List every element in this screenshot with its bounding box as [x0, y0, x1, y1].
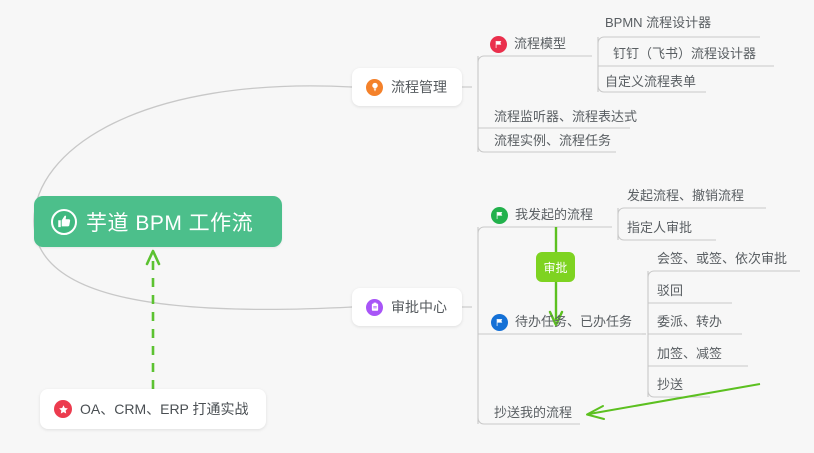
topic-label: 驳回 — [657, 283, 683, 298]
topic-start-cancel-process[interactable]: 发起流程、撤销流程 — [622, 186, 749, 208]
thumbs-up-icon — [51, 209, 77, 235]
note-label: OA、CRM、ERP 打通实战 — [80, 399, 249, 419]
topic-assignee-approval[interactable]: 指定人审批 — [622, 218, 697, 240]
mindmap-canvas: 芋道 BPM 工作流 流程管理 审批中心 — [0, 0, 814, 453]
topic-countersign[interactable]: 会签、或签、依次审批 — [652, 249, 792, 271]
topic-label: 流程监听器、流程表达式 — [494, 109, 637, 124]
topic-custom-form[interactable]: 自定义流程表单 — [600, 72, 701, 94]
note-node-integration[interactable]: OA、CRM、ERP 打通实战 — [40, 389, 266, 429]
clipboard-icon — [366, 299, 383, 316]
topic-label: 会签、或签、依次审批 — [657, 251, 787, 266]
underline-liuchengmoxing — [478, 56, 570, 62]
topic-label: 加签、减签 — [657, 346, 722, 361]
topic-add-remove-sign[interactable]: 加签、减签 — [652, 344, 727, 366]
topic-label: 自定义流程表单 — [605, 74, 696, 89]
star-icon — [54, 400, 72, 418]
branch-label-liucheng-guanli: 流程管理 — [391, 77, 447, 97]
root-node[interactable]: 芋道 BPM 工作流 — [34, 196, 282, 247]
flag-icon — [490, 36, 507, 53]
underline-wofaqi — [478, 227, 594, 233]
topic-cc-to-me[interactable]: 抄送我的流程 — [489, 403, 577, 425]
underline-bpmn — [598, 37, 760, 43]
topic-label: 流程模型 — [514, 34, 566, 54]
topic-my-initiated-process[interactable]: 我发起的流程 — [489, 205, 598, 227]
flag-icon — [491, 207, 508, 224]
topic-delegate-transfer[interactable]: 委派、转办 — [652, 312, 727, 334]
topic-reject[interactable]: 驳回 — [652, 281, 688, 303]
topic-todo-done-tasks[interactable]: 待办任务、已办任务 — [489, 312, 637, 334]
topic-label: 指定人审批 — [627, 220, 692, 235]
root-label: 芋道 BPM 工作流 — [86, 207, 253, 237]
topic-label: 委派、转办 — [657, 314, 722, 329]
branch-label-shenpi-zhongxin: 审批中心 — [391, 297, 447, 317]
topic-label: 抄送 — [657, 377, 683, 392]
flag-icon — [491, 314, 508, 331]
topic-label: BPMN 流程设计器 — [605, 15, 711, 30]
lightbulb-icon — [366, 79, 383, 96]
green-arrowhead-chaosong — [587, 406, 604, 419]
callout-label: 审批 — [543, 259, 567, 276]
topic-carbon-copy[interactable]: 抄送 — [652, 375, 688, 397]
topic-bpmn-designer[interactable]: BPMN 流程设计器 — [600, 13, 716, 35]
topic-label: 抄送我的流程 — [494, 405, 572, 420]
topic-liucheng-moxing[interactable]: 流程模型 — [488, 34, 571, 56]
topic-liucheng-jiantingqi[interactable]: 流程监听器、流程表达式 — [489, 107, 642, 129]
branch-node-shenpi-zhongxin[interactable]: 审批中心 — [352, 288, 462, 326]
topic-label: 待办任务、已办任务 — [515, 312, 632, 332]
callout-approval[interactable]: 审批 — [536, 252, 575, 282]
topic-label: 流程实例、流程任务 — [494, 133, 611, 148]
topic-dingding-designer[interactable]: 钉钉（飞书）流程设计器 — [608, 44, 761, 66]
underline-huiqian — [648, 271, 800, 277]
topic-label: 钉钉（飞书）流程设计器 — [613, 46, 756, 61]
topic-liucheng-shili[interactable]: 流程实例、流程任务 — [489, 131, 616, 153]
underline-faqiliucheng — [618, 208, 766, 214]
branch-node-liucheng-guanli[interactable]: 流程管理 — [352, 68, 462, 106]
topic-label: 发起流程、撤销流程 — [627, 188, 744, 203]
dashed-arrowhead-up — [147, 251, 159, 264]
topic-label: 我发起的流程 — [515, 205, 593, 225]
